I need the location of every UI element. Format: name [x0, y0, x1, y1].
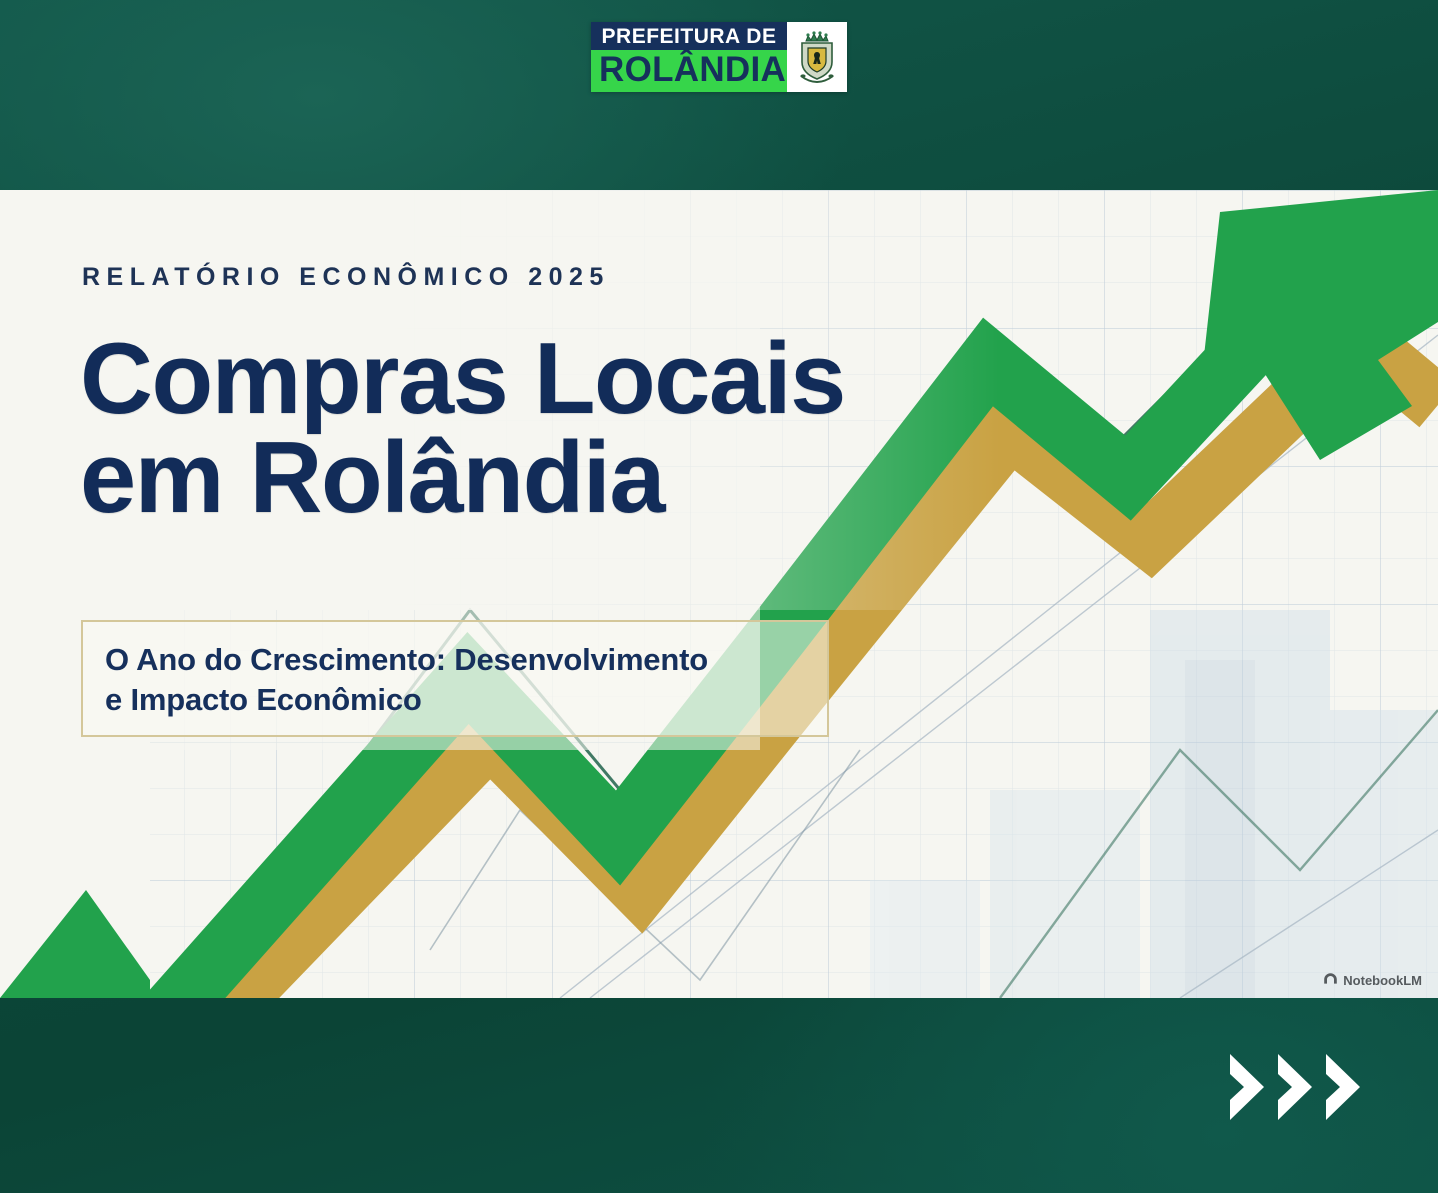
subtitle-text: O Ano do Crescimento: Desenvolvimento e …	[105, 640, 805, 719]
top-brand-band: PREFEITURA DE ROLÂNDIA	[0, 0, 1438, 190]
bottom-band	[0, 998, 1438, 1193]
page-title: Compras Locais em Rolândia	[80, 330, 1080, 528]
next-slide-chevrons[interactable]	[1224, 1050, 1366, 1129]
headline-line-2: em Rolândia	[80, 429, 1080, 528]
notebooklm-label: NotebookLM	[1343, 973, 1422, 988]
subtitle-line-1: O Ano do Crescimento: Desenvolvimento	[105, 640, 805, 680]
notebooklm-watermark: NotebookLM	[1323, 972, 1422, 988]
brand-line-rolandia: ROLÂNDIA	[591, 50, 787, 92]
chevron-right-icon[interactable]	[1224, 1050, 1270, 1129]
headline-line-1: Compras Locais	[80, 330, 1080, 429]
logo-text-block: PREFEITURA DE ROLÂNDIA	[591, 22, 787, 92]
subtitle-callout-box: O Ano do Crescimento: Desenvolvimento e …	[81, 620, 829, 737]
subtitle-line-2: e Impacto Econômico	[105, 680, 805, 720]
report-cover-card: RELATÓRIO ECONÔMICO 2025 Compras Locais …	[0, 190, 1438, 998]
report-eyebrow-label: RELATÓRIO ECONÔMICO 2025	[82, 263, 610, 292]
brand-line-prefeitura: PREFEITURA DE	[591, 22, 787, 50]
coat-of-arms-icon	[787, 22, 847, 92]
notebooklm-icon	[1323, 972, 1338, 988]
prefeitura-logo: PREFEITURA DE ROLÂNDIA	[591, 22, 847, 92]
cover-text-content: RELATÓRIO ECONÔMICO 2025 Compras Locais …	[0, 190, 1438, 998]
chevron-right-icon[interactable]	[1272, 1050, 1318, 1129]
chevron-right-icon[interactable]	[1320, 1050, 1366, 1129]
